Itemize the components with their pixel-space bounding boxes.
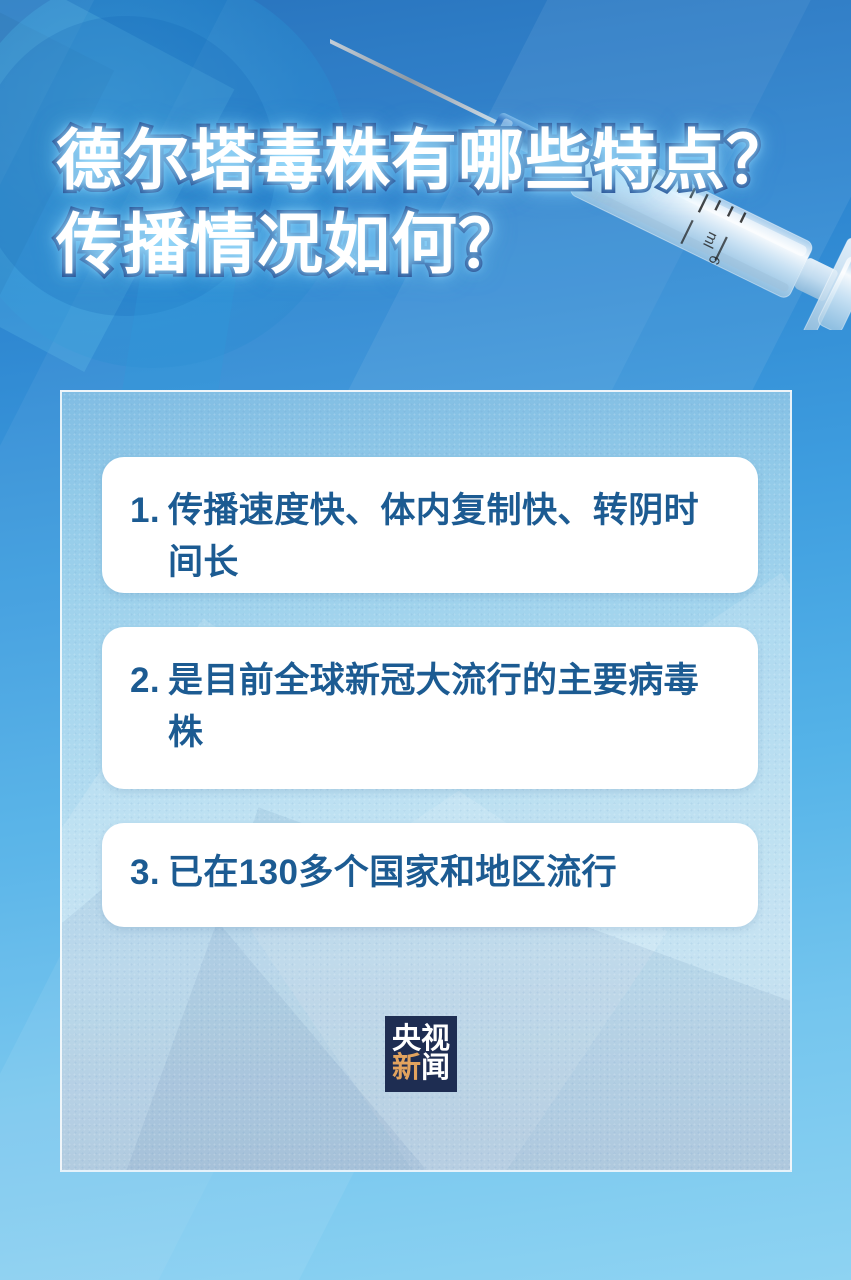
poster-root: ml 6 德尔塔毒株有哪些特点？ 传播情况如何？ 1. 传播速度快、体内复制快、…: [0, 0, 851, 1280]
fact-card-text: 2. 是目前全球新冠大流行的主要病毒株: [130, 655, 728, 759]
fact-card-body: 传播速度快、体内复制快、转阴时间长: [168, 485, 728, 589]
logo-row-bottom: 新 闻: [392, 1054, 450, 1083]
fact-card-text: 3. 已在130多个国家和地区流行: [130, 847, 728, 899]
title-line-1: 德尔塔毒株有哪些特点？: [56, 118, 836, 202]
fact-card: 2. 是目前全球新冠大流行的主要病毒株: [102, 627, 758, 789]
fact-card-number: 2.: [130, 655, 160, 707]
fact-card-list: 1. 传播速度快、体内复制快、转阴时间长 2. 是目前全球新冠大流行的主要病毒株…: [102, 457, 758, 961]
fact-card-number: 3.: [130, 847, 160, 899]
fact-card-body: 是目前全球新冠大流行的主要病毒株: [168, 655, 728, 759]
logo-row-top: 央 视: [392, 1025, 450, 1054]
fact-card: 1. 传播速度快、体内复制快、转阴时间长: [102, 457, 758, 593]
poster-title: 德尔塔毒株有哪些特点？ 传播情况如何？: [56, 118, 836, 286]
cctv-news-logo: 央 视 新 闻: [385, 1016, 457, 1092]
fact-card-number: 1.: [130, 485, 160, 537]
fact-card-body: 已在130多个国家和地区流行: [168, 847, 728, 899]
logo-char-yang: 央: [392, 1025, 421, 1054]
title-line-2: 传播情况如何？: [56, 202, 836, 286]
logo-char-shi: 视: [421, 1025, 450, 1054]
logo-char-wen: 闻: [421, 1054, 450, 1083]
logo-char-xin: 新: [392, 1054, 421, 1083]
fact-card-text: 1. 传播速度快、体内复制快、转阴时间长: [130, 485, 728, 589]
fact-card: 3. 已在130多个国家和地区流行: [102, 823, 758, 927]
